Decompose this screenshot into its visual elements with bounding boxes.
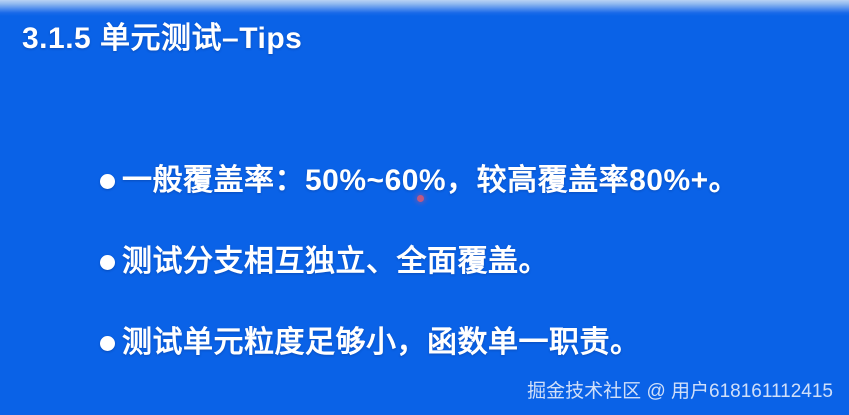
list-item: 测试分支相互独立、全面覆盖。 bbox=[100, 241, 840, 322]
list-item-label: 测试分支相互独立、全面覆盖。 bbox=[122, 241, 840, 283]
list-item: 一般覆盖率：50%~60%，较高覆盖率80%+。 bbox=[100, 160, 840, 241]
bullet-dot-icon bbox=[100, 255, 115, 270]
list-item-label: 一般覆盖率：50%~60%，较高覆盖率80%+。 bbox=[122, 160, 840, 202]
list-item-label: 测试单元粒度足够小，函数单一职责。 bbox=[122, 322, 840, 364]
top-gradient-band bbox=[0, 0, 849, 16]
page-title: 3.1.5 单元测试–Tips bbox=[22, 19, 302, 59]
watermark-label: 掘金技术社区 @ 用户618161112415 bbox=[527, 380, 833, 404]
presentation-slide: 3.1.5 单元测试–Tips 一般覆盖率：50%~60%，较高覆盖率80%+。… bbox=[0, 0, 849, 415]
bullet-list: 一般覆盖率：50%~60%，较高覆盖率80%+。 测试分支相互独立、全面覆盖。 … bbox=[100, 160, 840, 403]
pointer-dot-icon bbox=[417, 195, 424, 202]
bullet-dot-icon bbox=[100, 336, 115, 351]
bullet-dot-icon bbox=[100, 174, 115, 189]
